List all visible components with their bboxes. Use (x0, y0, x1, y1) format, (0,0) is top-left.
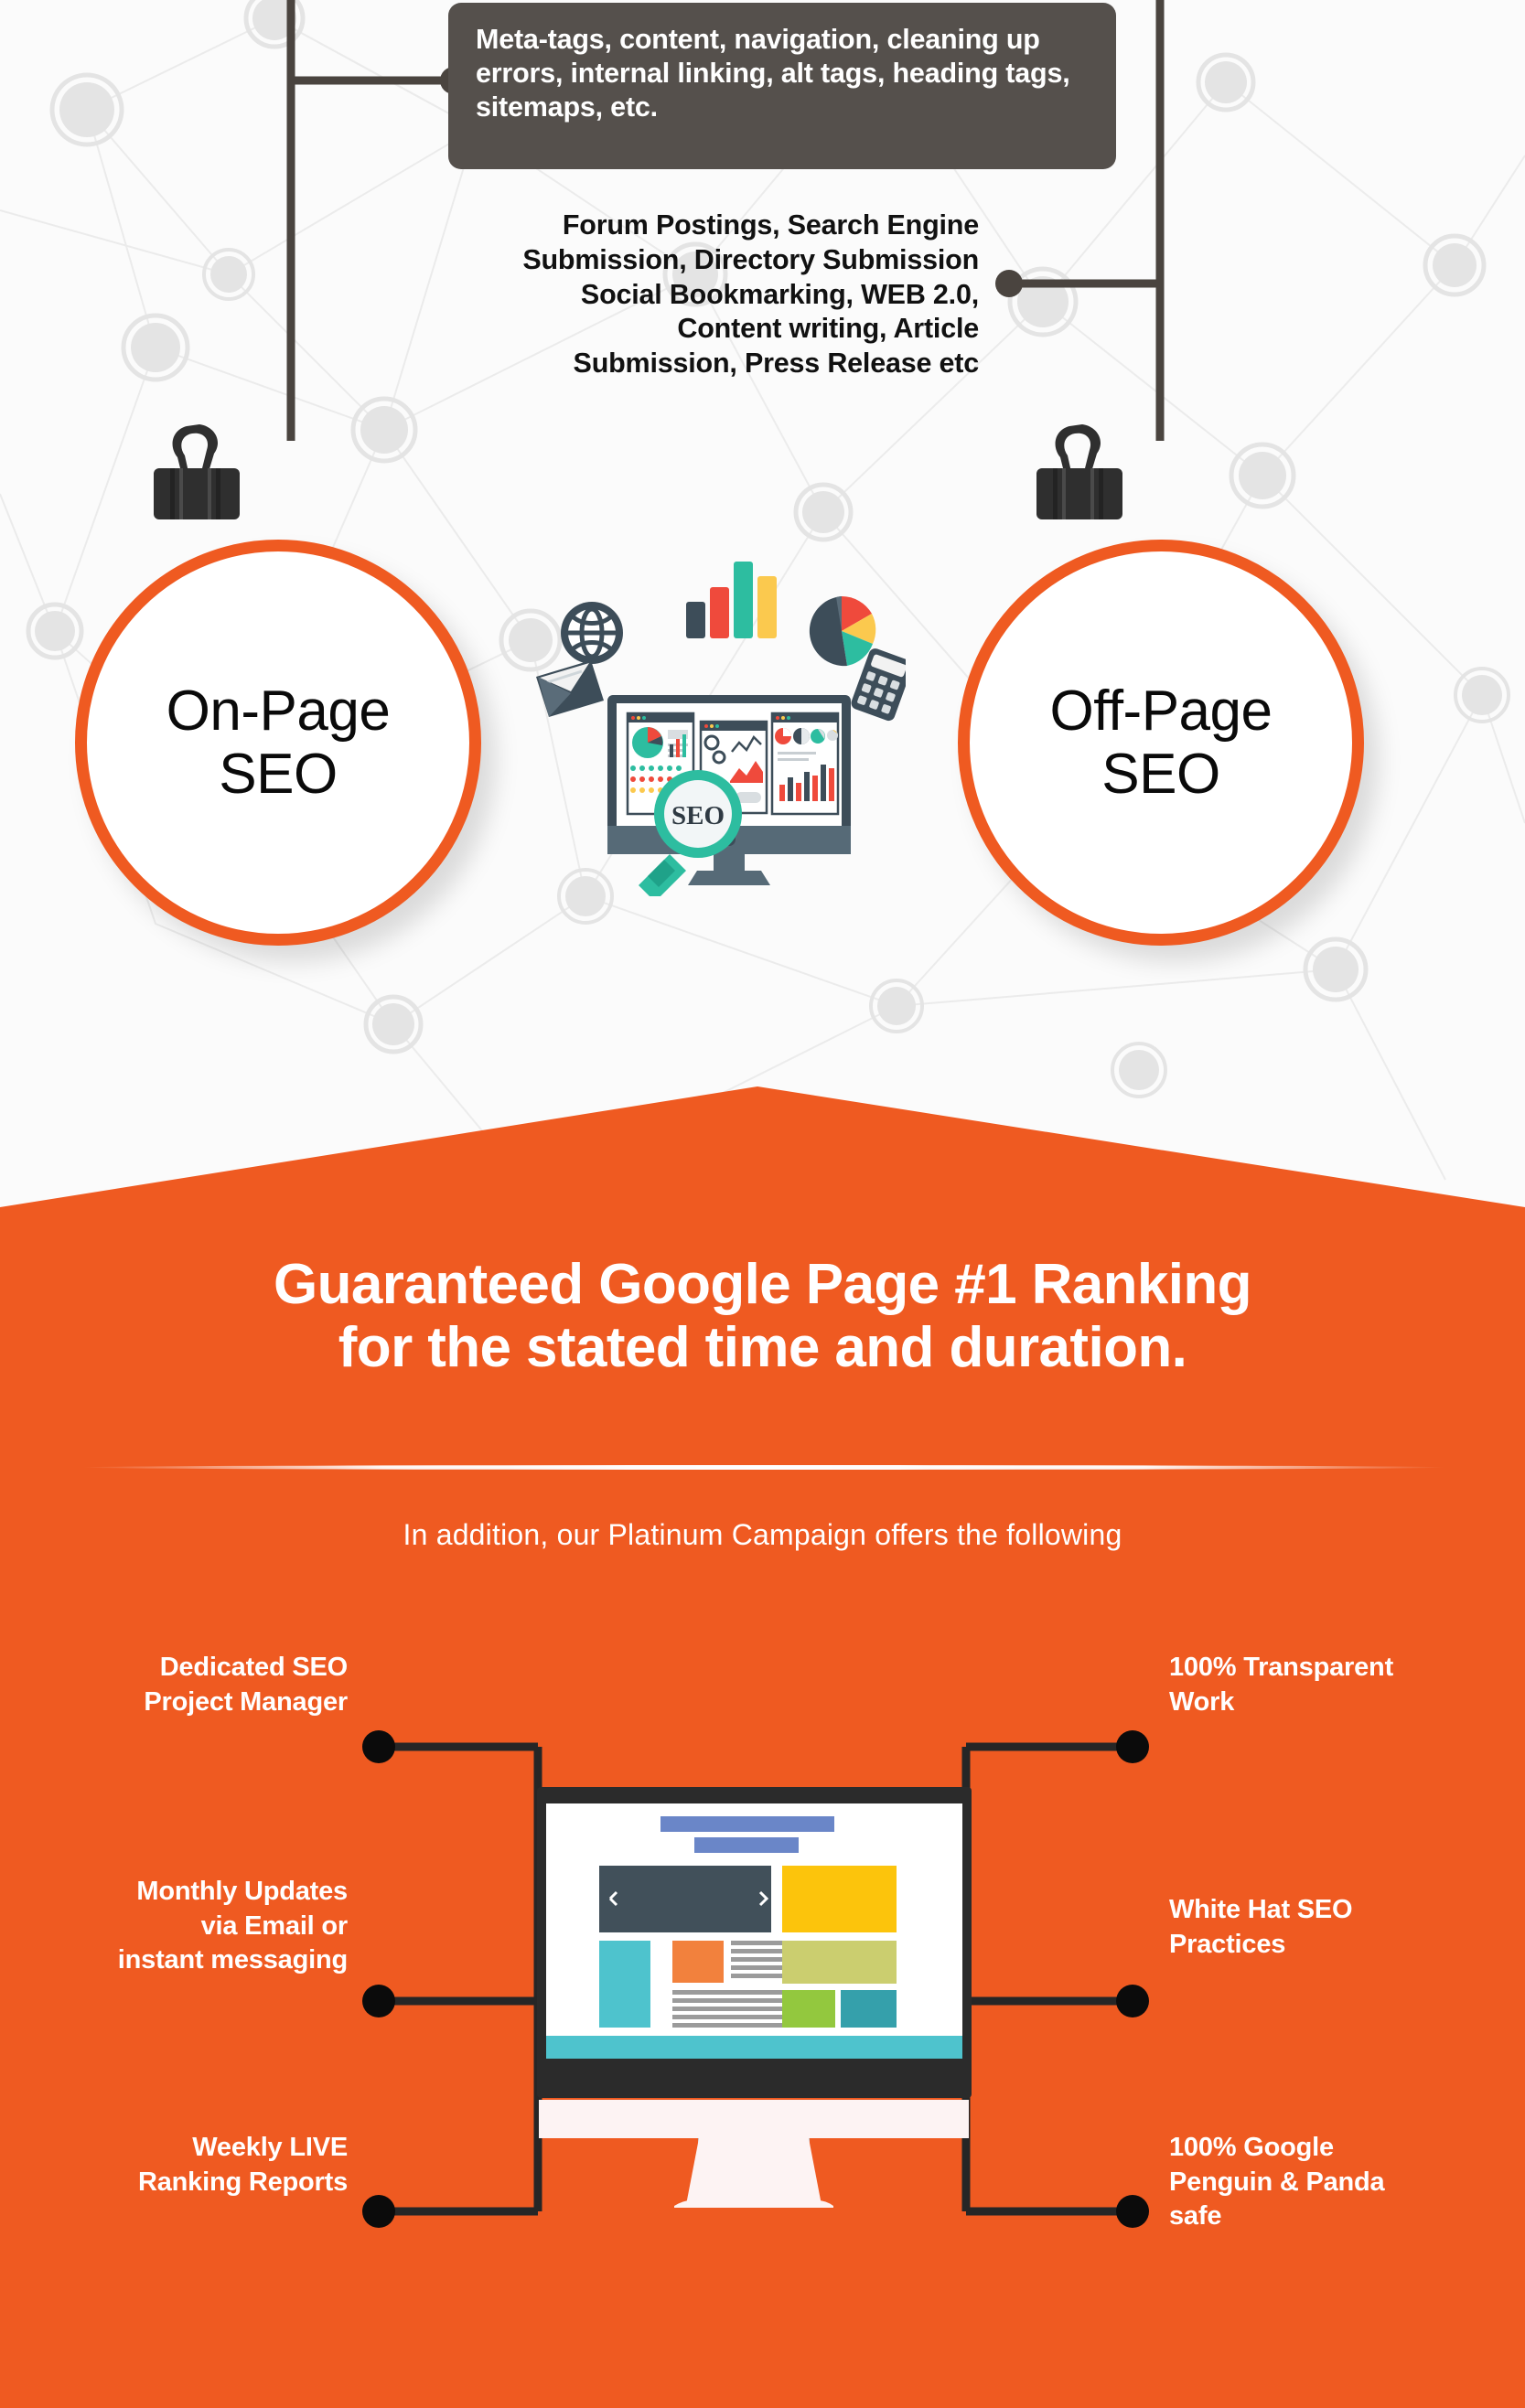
envelope-icon (536, 660, 604, 717)
on-page-seo-bubble[interactable]: On-Page SEO (55, 519, 501, 966)
screen-tile-cyan (599, 1941, 650, 2028)
binder-clip-icon (146, 421, 247, 530)
feature-line: Monthly Updates (37, 1875, 348, 1910)
connector-dot-right-3 (1116, 2195, 1149, 2228)
feature-label-right-3: 100% Google Penguin & Panda safe (1169, 2131, 1480, 2234)
screen-tile-teal (841, 1990, 897, 2028)
off-page-seo-list: Forum Postings, Search Engine Submission… (430, 209, 979, 381)
off-page-line: Content writing, Article (430, 312, 979, 347)
feature-line: Work (1169, 1686, 1480, 1720)
screen-slider (599, 1866, 771, 1932)
off-page-seo-bubble[interactable]: Off-Page SEO (938, 519, 1384, 966)
feature-line: White Hat SEO (1169, 1893, 1480, 1928)
dashboard-window-3 (772, 713, 838, 814)
feature-line: safe (1169, 2199, 1480, 2234)
feature-line: Penguin & Panda (1169, 2166, 1480, 2200)
feature-line: 100% Google (1169, 2131, 1480, 2166)
monitor-chin (539, 2100, 969, 2138)
off-page-line: Forum Postings, Search Engine (430, 209, 979, 243)
off-page-line: Submission, Directory Submission (430, 243, 979, 278)
feature-line: 100% Transparent (1169, 1651, 1480, 1686)
seo-analytics-illustration: SEO (531, 549, 906, 896)
connector-dot-right-2 (1116, 1985, 1149, 2017)
screen-footer-bar (546, 2036, 962, 2059)
feature-line: Ranking Reports (37, 2166, 348, 2200)
globe-icon (561, 602, 623, 664)
feature-label-right-1: 100% Transparent Work (1169, 1651, 1480, 1719)
on-page-seo-callout-text: Meta-tags, content, navigation, cleaning… (476, 24, 1069, 123)
feature-line: instant messaging (37, 1943, 348, 1978)
off-page-line: Submission, Press Release etc (430, 347, 979, 381)
screen-tile-orange (672, 1941, 724, 1983)
screen-tile-yellow (782, 1866, 897, 1932)
monitor-base (674, 2200, 833, 2208)
pie-chart-icon (810, 596, 875, 666)
feature-label-left-1: Dedicated SEO Project Manager (37, 1651, 348, 1719)
feature-line: via Email or (37, 1910, 348, 1944)
monitor-stand (685, 2138, 822, 2208)
seo-magnifier-label: SEO (671, 801, 725, 830)
connector-dot-left-2 (362, 1985, 395, 2017)
connector-dot-left-3 (362, 2195, 395, 2228)
feature-line: Project Manager (37, 1686, 348, 1720)
off-page-line: Social Bookmarking, WEB 2.0, (430, 278, 979, 313)
connector-dot-right-1 (1116, 1730, 1149, 1763)
feature-label-left-3: Weekly LIVE Ranking Reports (37, 2131, 348, 2199)
infographic-canvas: Meta-tags, content, navigation, cleaning… (0, 0, 1525, 2408)
feature-label-left-2: Monthly Updates via Email or instant mes… (37, 1875, 348, 1978)
feature-line: Practices (1169, 1928, 1480, 1963)
bar-chart-icon (686, 562, 777, 638)
website-monitor-illustration (537, 1787, 972, 2208)
connector-dot-offpage (995, 270, 1023, 297)
bubble-label-line1: On-Page (166, 680, 391, 743)
binder-clip-icon (1029, 421, 1130, 530)
feature-label-right-2: White Hat SEO Practices (1169, 1893, 1480, 1962)
bubble-label-line2: SEO (1101, 743, 1219, 806)
bubble-label: Off-Page SEO (958, 540, 1364, 946)
feature-line: Dedicated SEO (37, 1651, 348, 1686)
feature-line: Weekly LIVE (37, 2131, 348, 2166)
bubble-label: On-Page SEO (75, 540, 481, 946)
screen-tile-olive (782, 1941, 897, 1984)
bubble-label-line2: SEO (219, 743, 337, 806)
connector-dot-left-1 (362, 1730, 395, 1763)
bubble-label-line1: Off-Page (1049, 680, 1272, 743)
top-network-section: Meta-tags, content, navigation, cleaning… (0, 0, 1525, 1207)
screen-subheader-bar (694, 1837, 799, 1853)
on-page-seo-callout: Meta-tags, content, navigation, cleaning… (448, 3, 1116, 169)
screen-header-bar (660, 1816, 834, 1832)
screen-tile-green (782, 1990, 835, 2028)
